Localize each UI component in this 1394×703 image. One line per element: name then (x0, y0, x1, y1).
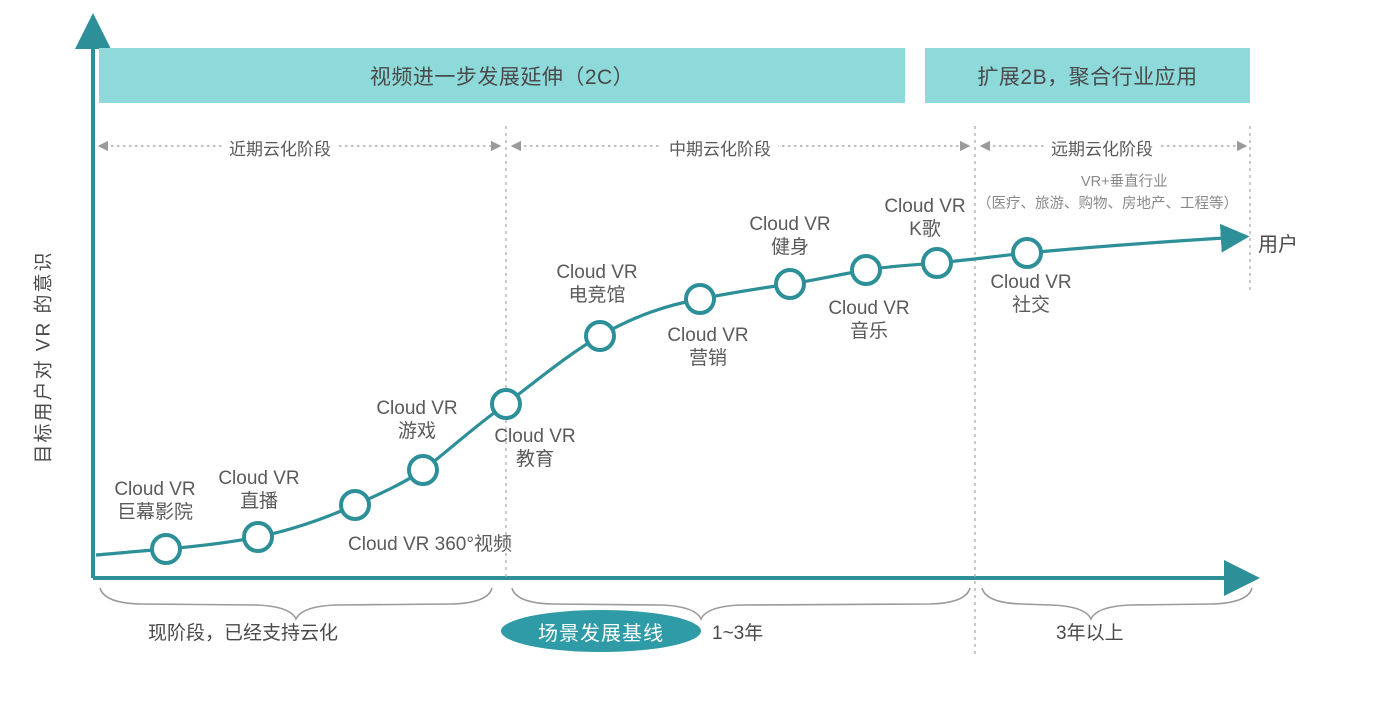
timeline-braces (100, 588, 1252, 619)
curve-node-label-line1: Cloud VR (494, 426, 575, 447)
curve-node-label-line1: Cloud VR (828, 298, 909, 319)
curve-node-label: Cloud VR巨幕影院 (114, 479, 195, 525)
brace-over3 (982, 588, 1252, 619)
timeline-caption-1to3: 1~3年 (712, 618, 763, 645)
timeline-caption-over3: 3年以上 (1056, 618, 1124, 645)
curve-node-label-line1: Cloud VR (114, 479, 195, 500)
curve-node-label-line2: 直播 (218, 491, 299, 514)
baseline-pill: 场景发展基线 (501, 610, 701, 652)
curve-node-label: Cloud VR健身 (749, 214, 830, 260)
curve-node-label-line2: 营销 (667, 348, 748, 371)
curve-node-marker[interactable] (776, 270, 804, 298)
banner-business-expansion: 扩展2B，聚合行业应用 (925, 48, 1250, 103)
brace-now (100, 588, 492, 619)
far-phase-note-industry-list: （医疗、旅游、购物、房地产、工程等） (977, 192, 1238, 213)
curve-node-label-line1: Cloud VR (990, 272, 1071, 293)
curve-node-label: Cloud VR社交 (990, 272, 1071, 318)
curve-node-label-line1: Cloud VR (884, 196, 965, 217)
curve-node-label-line1: Cloud VR 360°视频 (348, 534, 512, 555)
curve-node-label-line1: Cloud VR (556, 262, 637, 283)
phase-label-mid: 中期云化阶段 (662, 135, 778, 160)
far-phase-note-vertical-industries: VR+垂直行业 (1081, 170, 1168, 191)
cloud-vr-roadmap-diagram: 视频进一步发展延伸（2C） 扩展2B，聚合行业应用 近期云化阶段 中期云化阶段 … (0, 0, 1394, 703)
curve-node-marker[interactable] (492, 390, 520, 418)
curve-node-label-line1: Cloud VR (376, 398, 457, 419)
baseline-pill-label: 场景发展基线 (538, 617, 664, 646)
timeline-caption-now: 现阶段，已经支持云化 (148, 618, 338, 645)
curve-node-label-line1: Cloud VR (667, 325, 748, 346)
curve-node-label-line2: 电竞馆 (556, 285, 637, 308)
curve-node-label-line2: 社交 (990, 295, 1071, 318)
curve-node-label-line2: 健身 (749, 237, 830, 260)
curve-node-marker[interactable] (852, 256, 880, 284)
curve-node-marker[interactable] (152, 535, 180, 563)
phase-label-near: 近期云化阶段 (222, 135, 338, 160)
curve-node-label-line2: 游戏 (376, 421, 457, 444)
curve-node-marker[interactable] (686, 285, 714, 313)
x-axis-end-label: 用户 (1258, 228, 1298, 257)
curve-node-label: Cloud VR营销 (667, 325, 748, 371)
curve-node-label-line1: Cloud VR (749, 214, 830, 235)
curve-node-label-line1: Cloud VR (218, 468, 299, 489)
curve-node-marker[interactable] (586, 322, 614, 350)
curve-node-label-line2: 音乐 (828, 321, 909, 344)
banner-2c-label: 视频进一步发展延伸（2C） (370, 61, 634, 91)
phase-label-far: 远期云化阶段 (1044, 135, 1160, 160)
curve-node-label: Cloud VR教育 (494, 426, 575, 472)
curve-node-marker[interactable] (923, 249, 951, 277)
curve-node-label: Cloud VR音乐 (828, 298, 909, 344)
curve-node-label: Cloud VR直播 (218, 468, 299, 514)
curve-node-marker[interactable] (409, 456, 437, 484)
curve-node-label-line2: 教育 (494, 449, 575, 472)
banner-consumer-extension: 视频进一步发展延伸（2C） (99, 48, 905, 103)
curve-node-marker[interactable] (341, 491, 369, 519)
curve-node-label: Cloud VRK歌 (884, 196, 965, 242)
curve-node-label: Cloud VR游戏 (376, 398, 457, 444)
curve-node-label-line2: K歌 (884, 219, 965, 242)
y-axis-label: 目标用户对 VR 的意识 (29, 264, 56, 464)
curve-node-label-line2: 巨幕影院 (114, 502, 195, 525)
curve-node-marker[interactable] (1013, 239, 1041, 267)
curve-node-label: Cloud VR 360°视频 (348, 534, 512, 557)
curve-node-marker[interactable] (244, 523, 272, 551)
curve-node-label: Cloud VR电竞馆 (556, 262, 637, 308)
banner-2b-label: 扩展2B，聚合行业应用 (977, 61, 1197, 91)
